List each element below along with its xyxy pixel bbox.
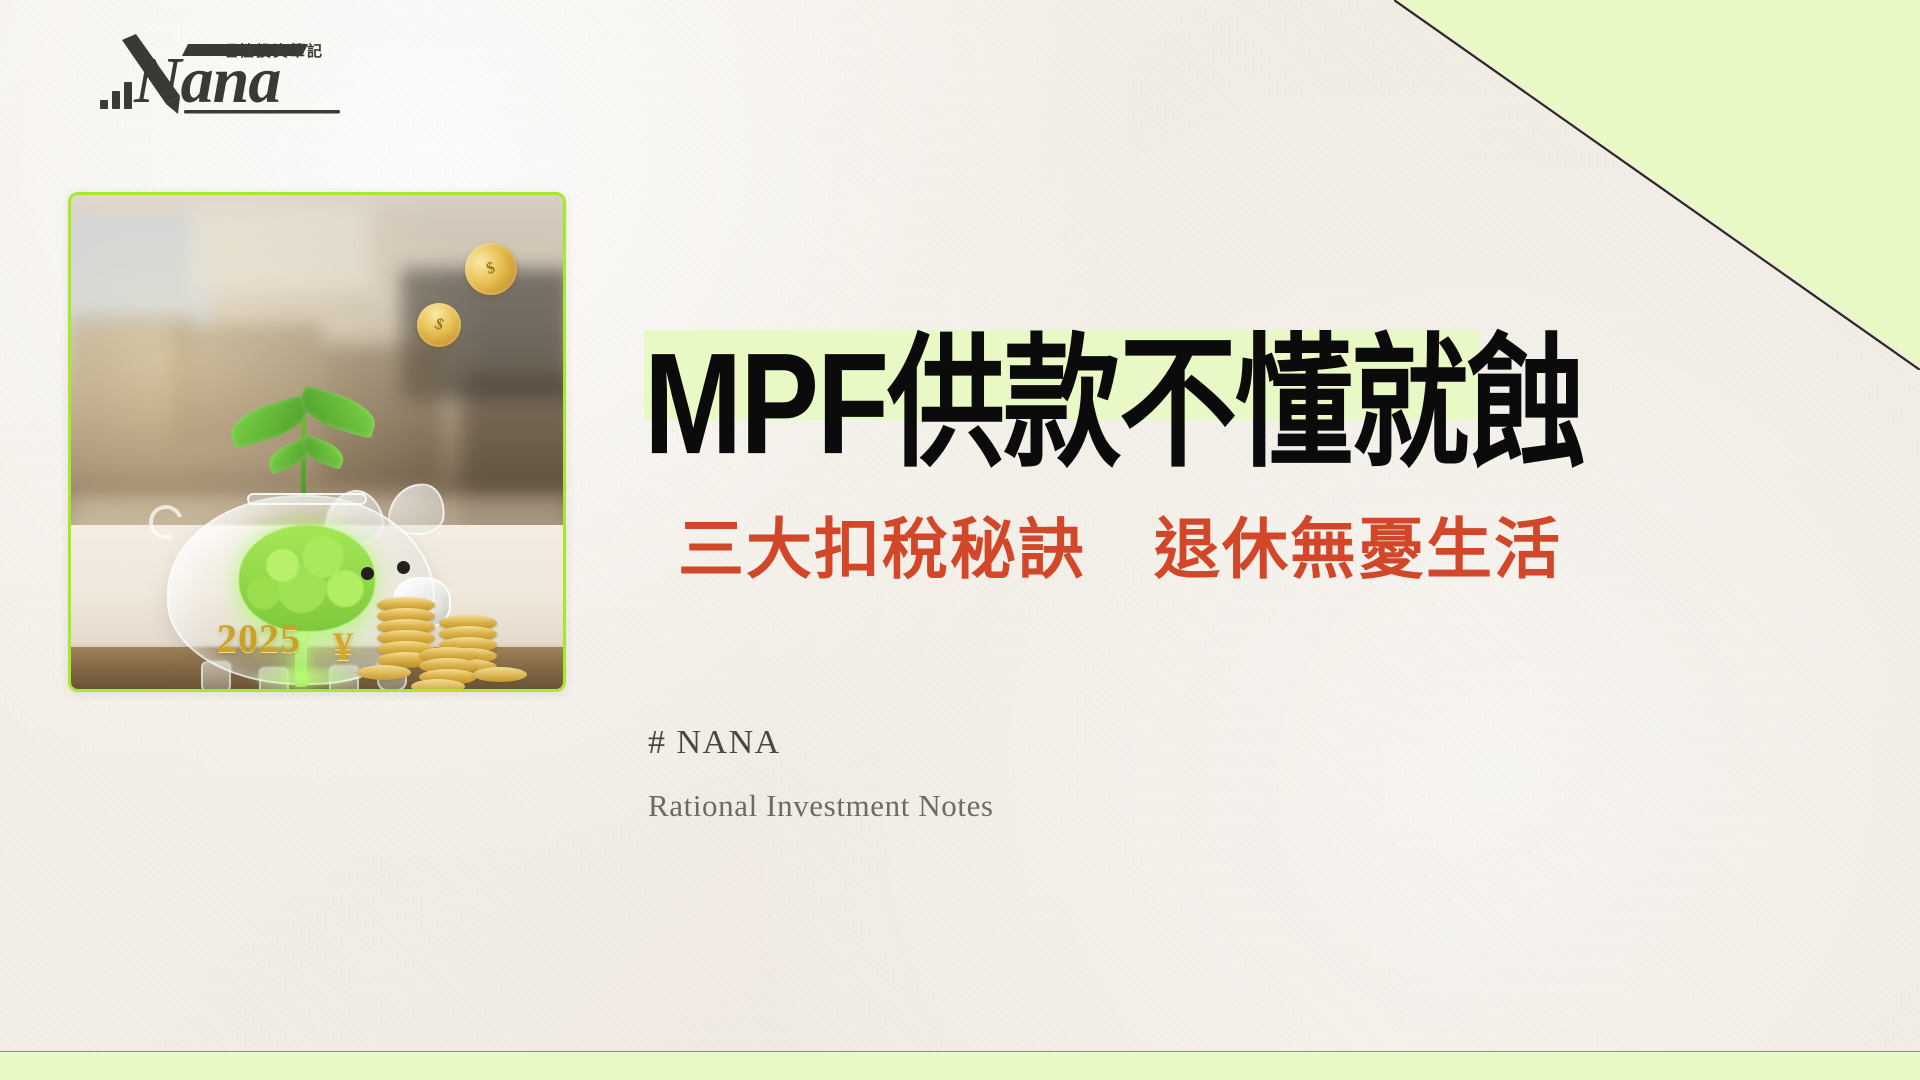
page-subtitle: 三大扣稅秘訣 退休無憂生活 bbox=[678, 496, 1562, 592]
currency-symbol: ¥ bbox=[333, 623, 353, 670]
piggy-eye bbox=[361, 567, 374, 580]
bottom-green-strip bbox=[0, 1052, 1920, 1080]
piggy-coin-slot bbox=[247, 493, 367, 505]
tree-root-glow bbox=[245, 667, 365, 692]
logo-tagline: 理性投資筆記 bbox=[222, 40, 324, 61]
year-label: 2025 bbox=[217, 615, 301, 662]
page-title: MPF供款不懂就蝕 bbox=[644, 186, 1583, 476]
loose-coin bbox=[473, 667, 527, 682]
loose-coin bbox=[411, 679, 465, 692]
title-block: MPF供款不懂就蝕 bbox=[644, 186, 1583, 424]
hero-image-card: 2025 ¥ $ $ bbox=[68, 192, 566, 692]
hashtag-label: # NANA bbox=[648, 724, 781, 762]
loose-coin bbox=[357, 665, 411, 680]
english-tagline: Rational Investment Notes bbox=[648, 788, 994, 824]
poster-canvas: Nana 理性投資筆記 bbox=[0, 0, 1920, 1080]
content-column: MPF供款不懂就蝕 三大扣稅秘訣 退休無憂生活 # NANA Rational … bbox=[648, 186, 1828, 424]
piggy-eye bbox=[397, 561, 410, 574]
